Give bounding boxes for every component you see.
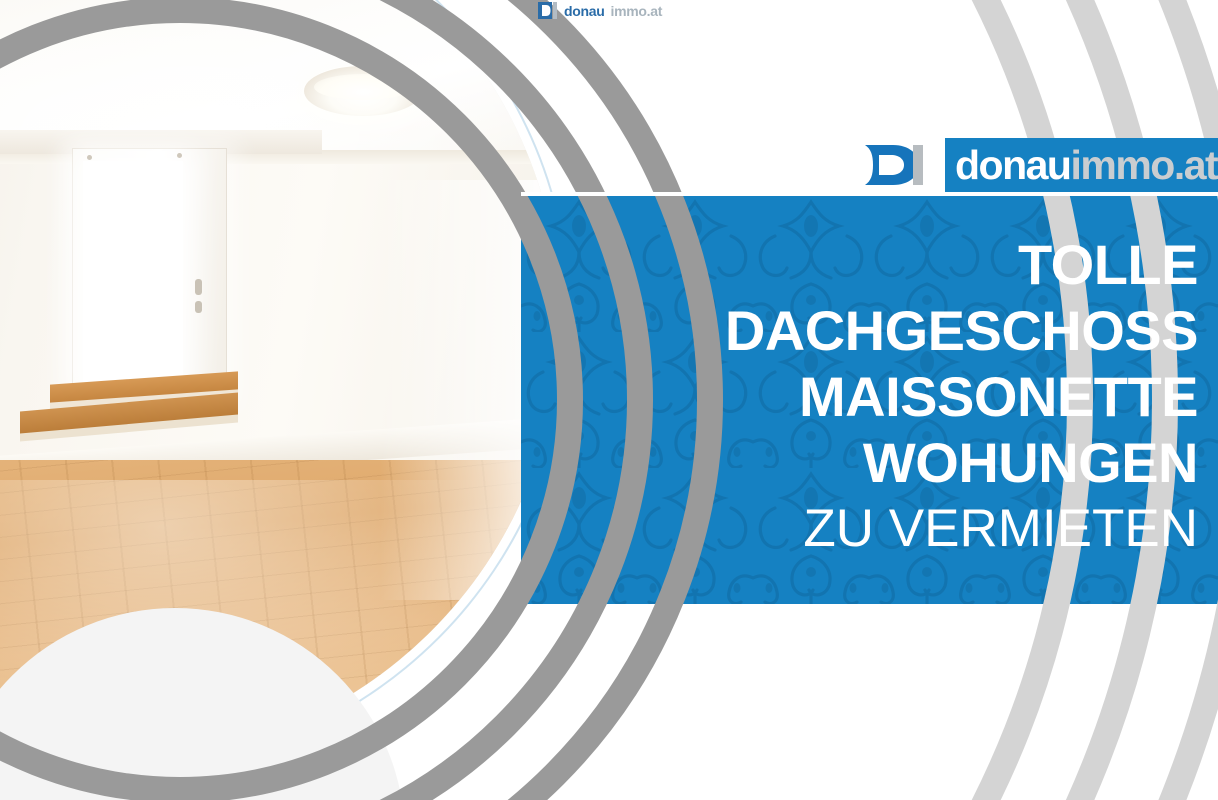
door-pane [135,206,183,247]
door-pane [83,297,131,338]
donau-d-logo-icon [538,2,558,19]
door-pane [83,161,131,202]
brand-logo[interactable]: donau immo.at [855,138,1218,192]
advertisement-poster: TOLLE DACHGESCHOSS MAISSONETTE WOHUNGEN … [0,0,1218,800]
door-pane [83,206,131,247]
headline-line-4: WOHUNGEN [549,430,1198,496]
donau-d-logo-icon [855,138,945,192]
door-pane [83,342,131,383]
door-pane [135,161,183,202]
door-pane [83,251,131,292]
headline-line-3: MAISSONETTE [549,364,1198,430]
headline-line-5: ZU VERMIETEN [549,496,1198,562]
door-lock [195,301,202,313]
donau-d-logo-icon-svg [538,2,558,19]
donau-d-logo-icon-svg [863,143,925,187]
watermark-text-donau: donau [564,3,605,19]
logo-text-donau: donau [955,145,1070,186]
door-pane [135,297,183,338]
ceiling-light-icon [304,66,422,116]
door-hinge [177,153,182,158]
french-door [72,148,227,400]
watermark-text-immoat: immo.at [611,3,663,19]
headline-line-2: DACHGESCHOSS [549,298,1198,364]
door-hinge [87,155,92,160]
door-pane [135,251,183,292]
door-glass-grid [83,161,183,383]
logo-text-immoat: immo.at [1070,145,1217,186]
door-handle [195,279,202,295]
top-watermark: donau immo.at [538,2,662,19]
headline-text-block: TOLLE DACHGESCHOSS MAISSONETTE WOHUNGEN … [521,196,1218,604]
headline-line-1: TOLLE [549,232,1198,298]
logo-wordmark: donau immo.at [945,138,1218,192]
